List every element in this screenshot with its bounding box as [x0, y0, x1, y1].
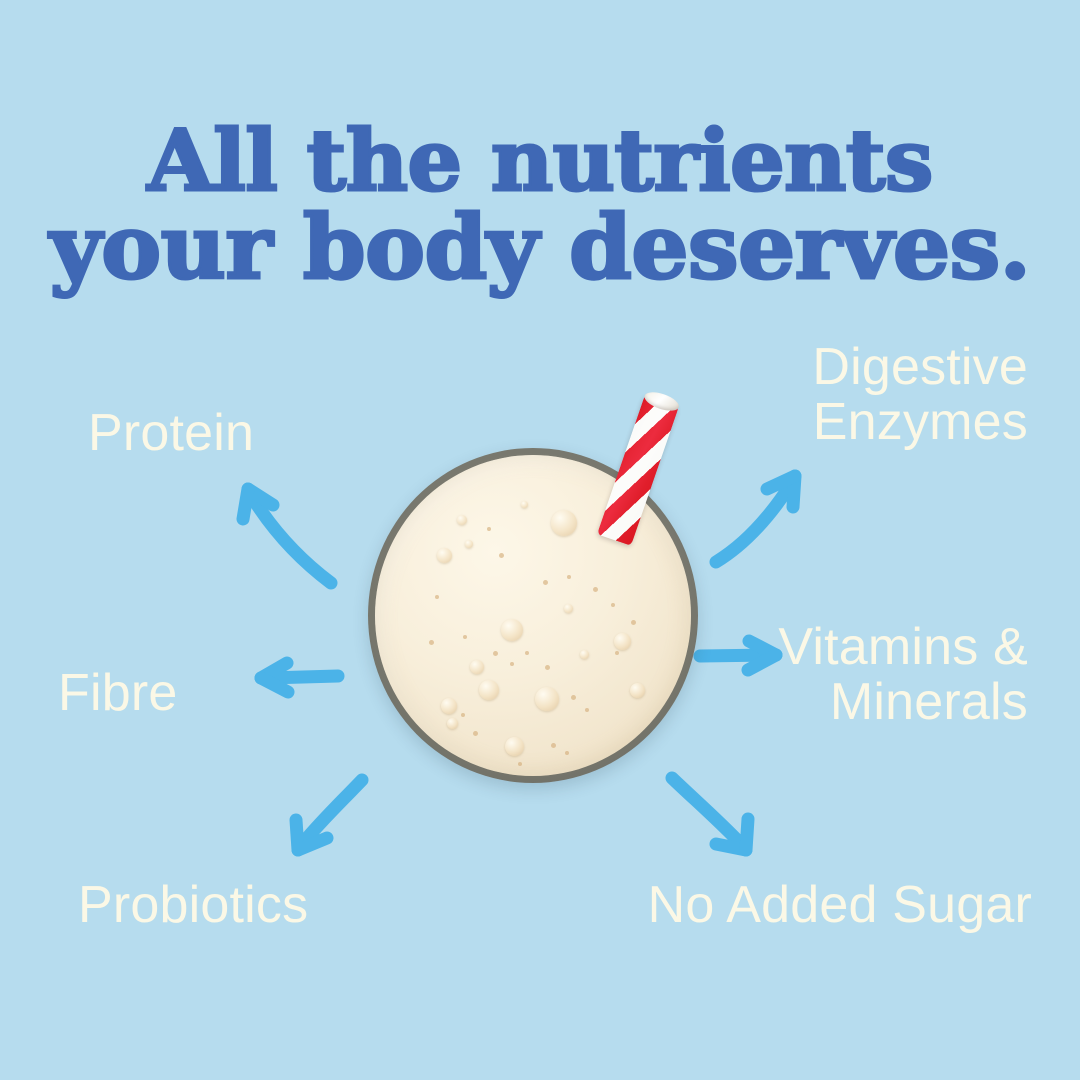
foam-bubble	[457, 515, 467, 525]
benefit-label-digestive-enzymes: Digestive Enzymes	[812, 340, 1028, 450]
foam-speck	[571, 695, 576, 700]
foam-bubble	[447, 718, 458, 729]
arrow-fibre-icon	[261, 663, 338, 692]
foam-speck	[435, 595, 439, 599]
foam-speck	[585, 708, 589, 712]
arrow-protein-icon	[243, 489, 331, 583]
foam-speck	[518, 762, 522, 766]
foam-speck	[487, 527, 491, 531]
page-title: All the nutrients your body deserves.	[0, 120, 1080, 291]
foam-speck	[567, 575, 571, 579]
foam-bubble	[470, 660, 484, 674]
benefit-label-no-added-sugar: No Added Sugar	[648, 878, 1032, 933]
foam-bubble	[564, 604, 573, 613]
foam-speck	[461, 713, 465, 717]
headline-line-1: All the nutrients	[0, 120, 1080, 202]
foam-bubble	[465, 540, 473, 548]
headline-line-2: your body deserves.	[0, 204, 1080, 290]
benefit-label-probiotics: Probiotics	[78, 878, 308, 933]
foam-speck	[551, 743, 556, 748]
foam-bubble	[535, 687, 559, 711]
benefit-label-vitamins-minerals: Vitamins & Minerals	[778, 620, 1028, 730]
nutrients-infographic-poster: All the nutrients your body deserves.	[0, 0, 1080, 1080]
foam-bubble	[614, 633, 631, 650]
foam-speck	[473, 731, 478, 736]
foam-bubble	[580, 650, 589, 659]
foam-bubble	[441, 698, 457, 714]
foam-bubble	[630, 683, 645, 698]
foam-speck	[463, 635, 467, 639]
foam-speck	[499, 553, 504, 558]
foam-speck	[593, 587, 598, 592]
benefit-label-protein: Protein	[88, 406, 254, 461]
foam-bubble	[521, 501, 528, 508]
arrow-probiotics-icon	[296, 780, 362, 850]
arrow-vitamins-minerals-icon	[700, 641, 776, 670]
foam-bubble	[479, 680, 499, 700]
foam-speck	[510, 662, 514, 666]
speck	[631, 620, 636, 625]
foam-bubble	[505, 737, 524, 756]
foam-speck	[543, 580, 548, 585]
foam-bubble	[551, 510, 577, 536]
foam-speck	[493, 651, 498, 656]
foam-bubble	[437, 548, 452, 563]
foam-speck	[545, 665, 550, 670]
foam-speck	[611, 603, 615, 607]
arrow-digestive-enzymes-icon	[716, 476, 795, 562]
benefit-label-fibre: Fibre	[58, 666, 177, 721]
foam-speck	[525, 651, 529, 655]
foam-speck	[615, 651, 619, 655]
smoothie-glass-image	[368, 448, 698, 783]
foam-speck	[565, 751, 569, 755]
arrow-no-added-sugar-icon	[672, 778, 748, 850]
foam-speck	[429, 640, 434, 645]
foam-bubble	[501, 619, 523, 641]
